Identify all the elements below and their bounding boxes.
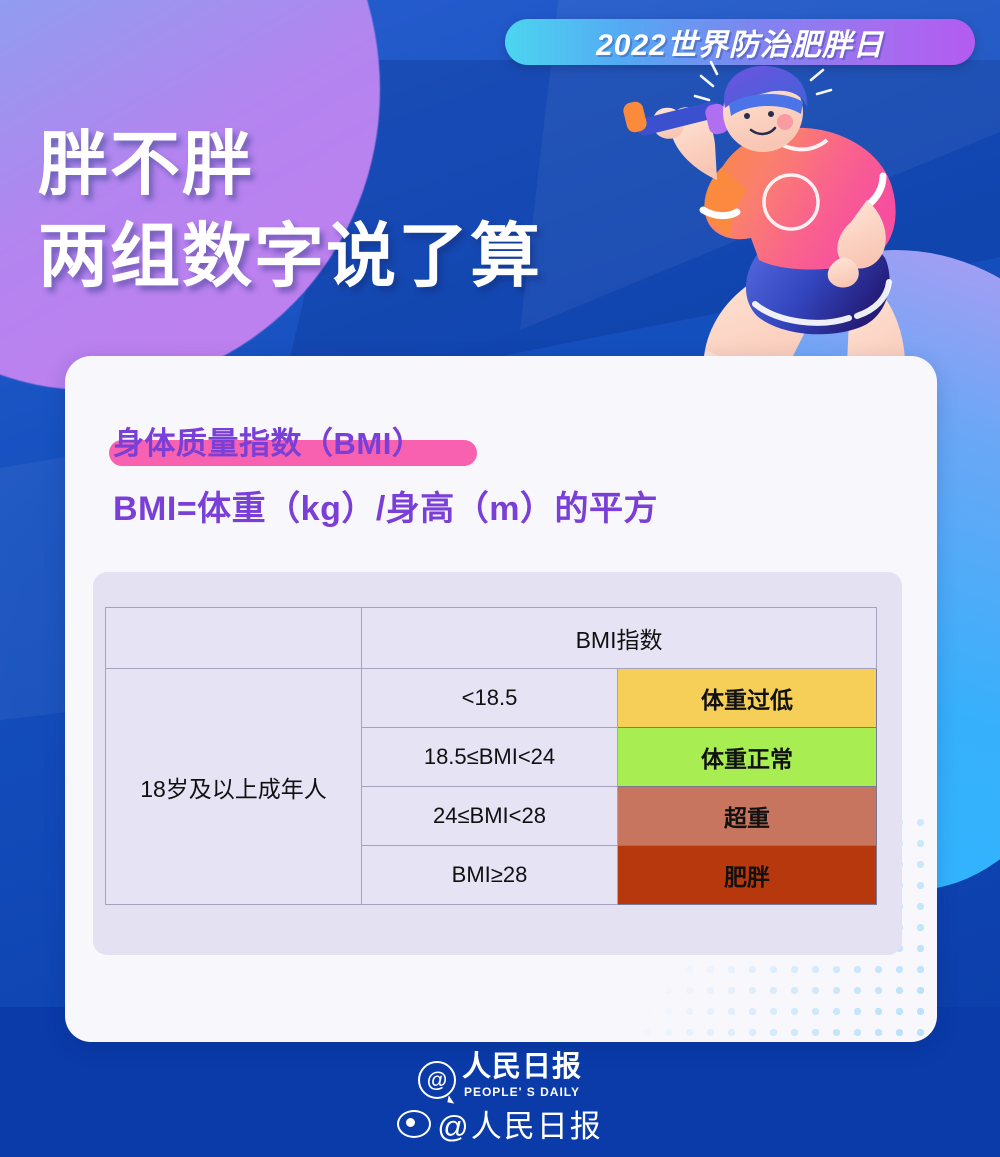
table-header-bmi: BMI指数	[362, 608, 877, 669]
at-icon: @	[418, 1061, 456, 1099]
brand-name-cn: 人民日报	[462, 1053, 582, 1082]
table-row: 18岁及以上成年人 <18.5 体重过低	[106, 669, 877, 728]
bmi-table-panel: BMI指数 18岁及以上成年人 <18.5 体重过低 18.5≤BMI<24 体…	[93, 572, 902, 955]
page-title: 胖不胖 两组数字说了算	[38, 118, 658, 303]
table-status-1: 体重正常	[618, 728, 877, 787]
weibo-account: @人民日报	[397, 1101, 602, 1146]
weibo-handle-label: @人民日报	[437, 1101, 602, 1146]
content-card: 身体质量指数（BMI） BMI=体重（kg）/身高（m）的平方 BMI指数 18…	[65, 356, 937, 1042]
table-age-group-label: 18岁及以上成年人	[106, 669, 362, 905]
table-header-row: BMI指数	[106, 608, 877, 669]
table-status-3: 肥胖	[618, 846, 877, 905]
footer-branding: @ 人民日报 PEOPLE' S DAILY @人民日报	[0, 1042, 1000, 1157]
section-heading-label: 身体质量指数（BMI）	[113, 426, 423, 461]
table-range-1: 18.5≤BMI<24	[362, 728, 618, 787]
table-status-0: 体重过低	[618, 669, 877, 728]
event-badge-label: 2022世界防治肥胖日	[596, 20, 884, 64]
brand-name-en: PEOPLE' S DAILY	[464, 1085, 580, 1099]
table-range-3: BMI≥28	[362, 846, 618, 905]
table-header-blank	[106, 608, 362, 669]
event-badge: 2022世界防治肥胖日	[505, 19, 975, 65]
bmi-table: BMI指数 18岁及以上成年人 <18.5 体重过低 18.5≤BMI<24 体…	[105, 607, 877, 905]
table-range-2: 24≤BMI<28	[362, 787, 618, 846]
peoples-daily-logo: @ 人民日报 PEOPLE' S DAILY	[418, 1053, 582, 1099]
headline-line-1: 胖不胖	[38, 118, 658, 210]
weibo-icon	[397, 1110, 431, 1138]
poster-root: 2022世界防治肥胖日 胖不胖 两组数字说了算	[0, 0, 1000, 1157]
table-status-2: 超重	[618, 787, 877, 846]
table-range-0: <18.5	[362, 669, 618, 728]
headline-line-2: 两组数字说了算	[38, 210, 658, 302]
section-heading: 身体质量指数（BMI）	[113, 418, 423, 463]
bmi-formula: BMI=体重（kg）/身高（m）的平方	[113, 481, 658, 530]
